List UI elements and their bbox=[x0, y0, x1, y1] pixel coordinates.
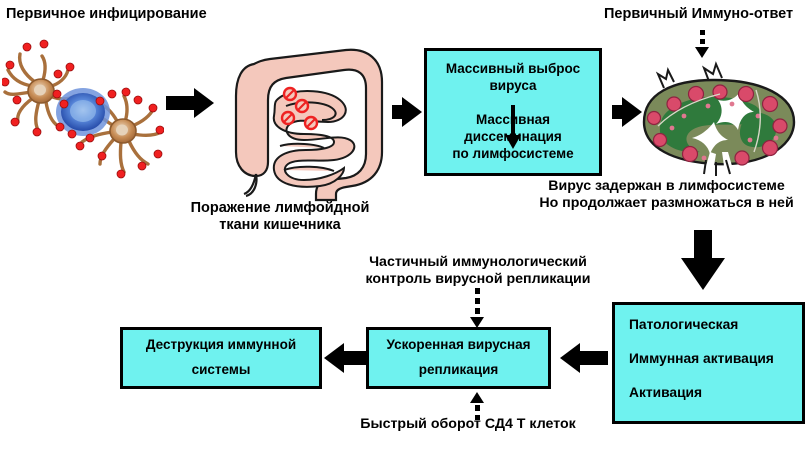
intestine-illustration bbox=[224, 34, 392, 202]
lymph-node-illustration bbox=[634, 60, 802, 178]
caption-virus-retained: Вирус задержан в лимфосистеме Но продолж… bbox=[528, 178, 805, 212]
box-immune-system-destruction[interactable]: Деструкция иммунной системы bbox=[120, 327, 322, 389]
box-pathological-immune-activation[interactable]: Патологическая Иммунная активация Актива… bbox=[612, 302, 805, 424]
diagram-canvas: Первичное инфицирование Первичный Иммуно… bbox=[0, 0, 805, 471]
box-massive-release-top-text: Массивный выброс вируса bbox=[433, 61, 593, 95]
box-accelerated-viral-replication[interactable]: Ускоренная вирусная репликация bbox=[366, 327, 551, 389]
box-pathological-line-1: Патологическая bbox=[629, 316, 802, 333]
title-primary-infection: Первичное инфицирование bbox=[6, 6, 207, 23]
box-pathological-line-3: Активация bbox=[629, 384, 802, 401]
caption-partial-immunologic-control: Частичный иммунологический контроль виру… bbox=[344, 254, 612, 288]
box-pathological-line-2: Иммунная активация bbox=[629, 350, 802, 367]
caption-cd4-t-cell-turnover: Быстрый оборот СД4 Т клеток bbox=[338, 416, 598, 433]
box-massive-virus-release[interactable]: Массивный выброс вируса Массивная диссем… bbox=[424, 48, 602, 176]
title-primary-immune-response: Первичный Иммуно-ответ bbox=[604, 6, 793, 23]
caption-gut-lymphoid-lesion: Поражение лимфойдной ткани кишечника bbox=[150, 200, 410, 234]
box-destruction-text: Деструкция иммунной системы bbox=[146, 333, 296, 383]
box-accelerated-text: Ускоренная вирусная репликация bbox=[387, 333, 531, 383]
box-massive-release-bottom-text: Массивная диссеминация по лимфосистеме bbox=[431, 112, 595, 163]
dendritic-cells-illustration bbox=[2, 34, 164, 182]
